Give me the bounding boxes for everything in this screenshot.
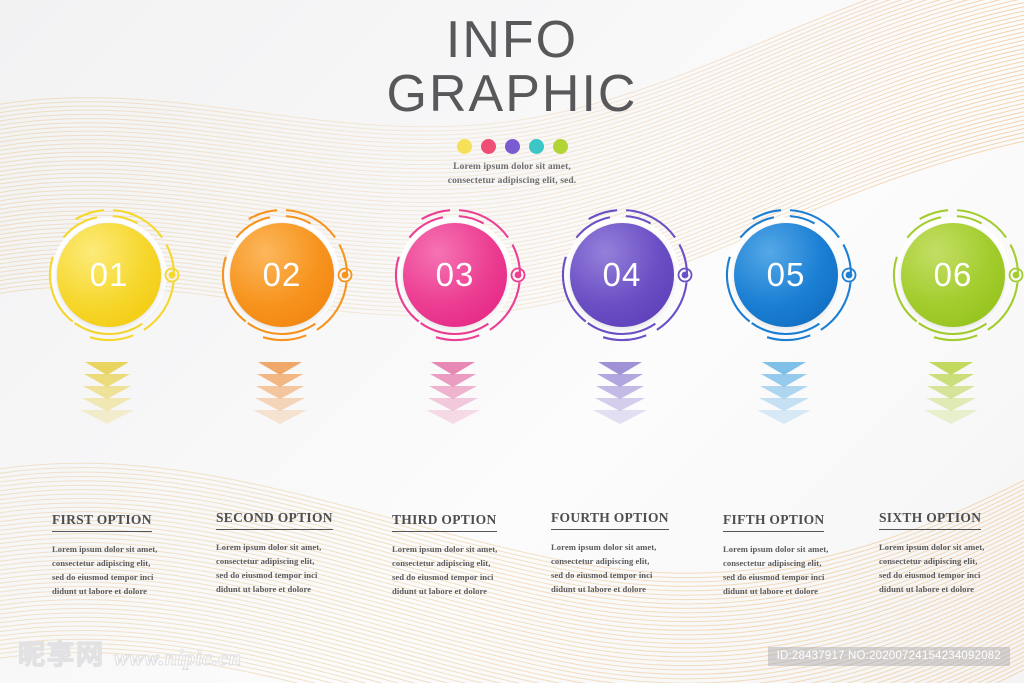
step-circle-01[interactable]: 01 xyxy=(34,205,180,345)
option-body-line: consectetur adipiscing elit, xyxy=(216,555,376,569)
option-body-line: Lorem ipsum dolor sit amet, xyxy=(879,541,1024,555)
option-title: SECOND OPTION xyxy=(216,510,333,530)
option-block-01: FIRST OPTIONLorem ipsum dolor sit amet,c… xyxy=(52,511,212,599)
option-block-06: SIXTH OPTIONLorem ipsum dolor sit amet,c… xyxy=(879,509,1024,597)
step-number-label: 02 xyxy=(263,256,302,294)
step-circle-04[interactable]: 04 xyxy=(547,205,693,345)
chevron-stack-05 xyxy=(711,362,857,440)
option-block-05: FIFTH OPTIONLorem ipsum dolor sit amet,c… xyxy=(723,511,883,599)
option-body-line: sed do eiusmod tempor inci xyxy=(392,571,552,585)
option-body-line: didunt ut labore et dolore xyxy=(216,583,376,597)
header-dot-4 xyxy=(529,139,544,154)
option-body-line: Lorem ipsum dolor sit amet, xyxy=(723,543,883,557)
chevron-arrow xyxy=(757,410,811,424)
ring-node-dot xyxy=(515,272,522,279)
chevron-stack-04 xyxy=(547,362,693,440)
header-subtitle: Lorem ipsum dolor sit amet, consectetur … xyxy=(0,161,1024,188)
step-number-label: 04 xyxy=(603,256,642,294)
option-title: FIFTH OPTION xyxy=(723,512,824,532)
option-body-line: Lorem ipsum dolor sit amet, xyxy=(551,541,711,555)
chevron-arrow xyxy=(924,410,978,424)
header-subtitle-line1: Lorem ipsum dolor sit amet, xyxy=(0,161,1024,174)
chevron-arrow xyxy=(80,410,134,424)
option-body-line: didunt ut labore et dolore xyxy=(52,585,212,599)
ring-node-dot xyxy=(682,272,689,279)
step-circle-row: 010203040506 xyxy=(0,205,1024,345)
step-number-label: 01 xyxy=(90,256,129,294)
header-dot-3 xyxy=(505,139,520,154)
step-number-label: 05 xyxy=(767,256,806,294)
step-circle-core[interactable]: 02 xyxy=(230,223,334,327)
header-dot-5 xyxy=(553,139,568,154)
step-number-label: 03 xyxy=(436,256,475,294)
step-circle-core[interactable]: 03 xyxy=(403,223,507,327)
header-subtitle-line2: consectetur adipiscing elit, sed. xyxy=(0,175,1024,188)
chevron-arrow xyxy=(253,410,307,424)
option-body-line: sed do eiusmod tempor inci xyxy=(52,571,212,585)
option-body-line: didunt ut labore et dolore xyxy=(392,585,552,599)
option-block-04: FOURTH OPTIONLorem ipsum dolor sit amet,… xyxy=(551,509,711,597)
page-title-line2: GRAPHIC xyxy=(0,68,1024,122)
option-body: Lorem ipsum dolor sit amet,consectetur a… xyxy=(551,541,711,597)
step-circle-core[interactable]: 06 xyxy=(901,223,1005,327)
chevron-stack-02 xyxy=(207,362,353,440)
step-circle-core[interactable]: 05 xyxy=(734,223,838,327)
step-circle-core[interactable]: 04 xyxy=(570,223,674,327)
option-title: FOURTH OPTION xyxy=(551,510,669,530)
ring-node-dot xyxy=(1013,272,1020,279)
step-circle-05[interactable]: 05 xyxy=(711,205,857,345)
watermark: 昵享网 www.nipic.cn xyxy=(18,642,241,669)
header-dot-row xyxy=(0,139,1024,154)
ring-node-dot xyxy=(846,272,853,279)
infographic-canvas: INFO GRAPHIC Lorem ipsum dolor sit amet,… xyxy=(0,0,1024,683)
chevron-stack-03 xyxy=(380,362,526,440)
option-body-line: consectetur adipiscing elit, xyxy=(551,555,711,569)
watermark-url-text: www.nipic.cn xyxy=(114,646,241,669)
option-body-line: Lorem ipsum dolor sit amet, xyxy=(392,543,552,557)
page-title-line1: INFO xyxy=(0,14,1024,68)
option-body-line: consectetur adipiscing elit, xyxy=(392,557,552,571)
option-body: Lorem ipsum dolor sit amet,consectetur a… xyxy=(879,541,1024,597)
option-body-line: sed do eiusmod tempor inci xyxy=(551,569,711,583)
watermark-logo-text: 昵享网 xyxy=(18,642,105,669)
image-id-badge: ID:28437917 NO:20200724154234092082 xyxy=(768,647,1010,666)
header-dot-1 xyxy=(457,139,472,154)
option-body-line: sed do eiusmod tempor inci xyxy=(723,571,883,585)
option-title: SIXTH OPTION xyxy=(879,510,981,530)
option-block-03: THIRD OPTIONLorem ipsum dolor sit amet,c… xyxy=(392,511,552,599)
option-body-line: consectetur adipiscing elit, xyxy=(723,557,883,571)
option-body-line: sed do eiusmod tempor inci xyxy=(879,569,1024,583)
chevron-arrow xyxy=(426,410,480,424)
step-circle-02[interactable]: 02 xyxy=(207,205,353,345)
option-body: Lorem ipsum dolor sit amet,consectetur a… xyxy=(216,541,376,597)
step-circle-03[interactable]: 03 xyxy=(380,205,526,345)
ring-node-dot xyxy=(169,272,176,279)
option-title: THIRD OPTION xyxy=(392,512,497,532)
option-body: Lorem ipsum dolor sit amet,consectetur a… xyxy=(392,543,552,599)
header-dot-2 xyxy=(481,139,496,154)
ring-node-dot xyxy=(342,272,349,279)
option-body-line: didunt ut labore et dolore xyxy=(879,583,1024,597)
option-body: Lorem ipsum dolor sit amet,consectetur a… xyxy=(723,543,883,599)
step-circle-06[interactable]: 06 xyxy=(878,205,1024,345)
chevron-stack-01 xyxy=(34,362,180,440)
option-body-line: Lorem ipsum dolor sit amet, xyxy=(52,543,212,557)
option-body-line: Lorem ipsum dolor sit amet, xyxy=(216,541,376,555)
chevron-arrow xyxy=(593,410,647,424)
option-body: Lorem ipsum dolor sit amet,consectetur a… xyxy=(52,543,212,599)
chevron-stack-06 xyxy=(878,362,1024,440)
option-body-line: consectetur adipiscing elit, xyxy=(879,555,1024,569)
option-block-02: SECOND OPTIONLorem ipsum dolor sit amet,… xyxy=(216,509,376,597)
step-circle-core[interactable]: 01 xyxy=(57,223,161,327)
header: INFO GRAPHIC Lorem ipsum dolor sit amet,… xyxy=(0,14,1024,188)
step-number-label: 06 xyxy=(934,256,973,294)
option-title: FIRST OPTION xyxy=(52,512,152,532)
option-body-line: sed do eiusmod tempor inci xyxy=(216,569,376,583)
option-body-line: didunt ut labore et dolore xyxy=(723,585,883,599)
option-body-line: didunt ut labore et dolore xyxy=(551,583,711,597)
option-body-line: consectetur adipiscing elit, xyxy=(52,557,212,571)
